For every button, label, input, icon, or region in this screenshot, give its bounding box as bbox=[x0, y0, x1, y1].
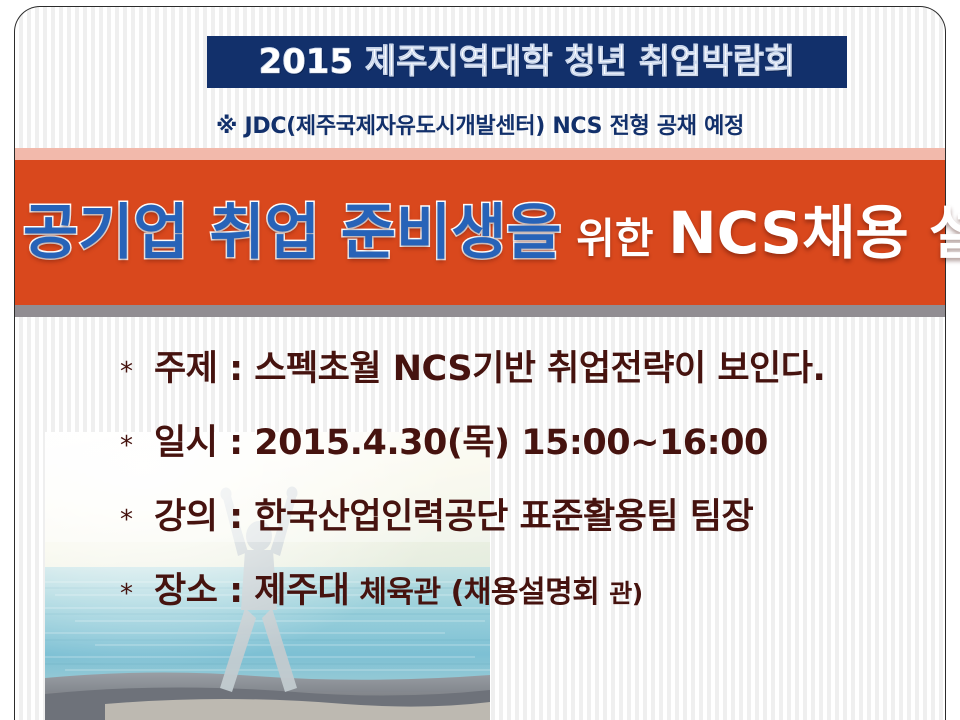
headline-segment-blue: 공기업 취업 준비생을 bbox=[23, 198, 562, 268]
details-list: * 주제 : 스펙초월 NCS기반 취업전략이 보인다. * 일시 : 2015… bbox=[120, 340, 950, 636]
bullet-marker-icon: * bbox=[120, 431, 154, 461]
bullet-marker-icon: * bbox=[120, 357, 154, 387]
bullet-marker-icon: * bbox=[120, 505, 154, 535]
headline-text: 공기업 취업 준비생을 위한 NCS채용 설명회 bbox=[15, 203, 960, 263]
detail-lecturer: 강의 : 한국산업인력공단 표준활용팀 팀장 bbox=[154, 488, 753, 539]
list-item: * 강의 : 한국산업인력공단 표준활용팀 팀장 bbox=[120, 488, 950, 562]
headline-top-accent-bar bbox=[15, 148, 945, 160]
bullet-marker-icon: * bbox=[120, 579, 154, 609]
list-item: * 주제 : 스펙초월 NCS기반 취업전략이 보인다. bbox=[120, 340, 950, 414]
subtitle-note: ※ JDC(제주국제자유도시개발센터) NCS 전형 공채 예정 bbox=[0, 108, 960, 140]
detail-venue-sub: 체육관 (채용설명회 bbox=[349, 575, 609, 610]
detail-topic: 주제 : 스펙초월 NCS기반 취업전략이 보인다. bbox=[154, 340, 825, 391]
detail-venue-main: 제주대 bbox=[254, 571, 349, 611]
title-banner: 2015 제주지역대학 청년 취업박람회 bbox=[207, 36, 847, 88]
headline-band: 공기업 취업 준비생을 위한 NCS채용 설명회 bbox=[15, 160, 945, 305]
headline-bottom-accent-bar bbox=[15, 305, 945, 317]
detail-venue-separator: : bbox=[217, 571, 254, 611]
detail-venue: 장소 : 제주대 체육관 (채용설명회 관) bbox=[154, 562, 643, 613]
detail-venue-label: 장소 bbox=[154, 571, 217, 611]
detail-venue-tail: 관) bbox=[609, 579, 642, 608]
headline-segment-white: NCS채용 설명회 bbox=[668, 199, 960, 267]
list-item: * 일시 : 2015.4.30(목) 15:00~16:00 bbox=[120, 414, 950, 488]
detail-datetime: 일시 : 2015.4.30(목) 15:00~16:00 bbox=[154, 414, 768, 465]
list-item: * 장소 : 제주대 체육관 (채용설명회 관) bbox=[120, 562, 950, 636]
headline-segment-connector: 위한 bbox=[562, 214, 669, 263]
poster-canvas: 2015 제주지역대학 청년 취업박람회 ※ JDC(제주국제자유도시개발센터)… bbox=[0, 0, 960, 720]
title-banner-text: 2015 제주지역대학 청년 취업박람회 bbox=[259, 45, 796, 79]
